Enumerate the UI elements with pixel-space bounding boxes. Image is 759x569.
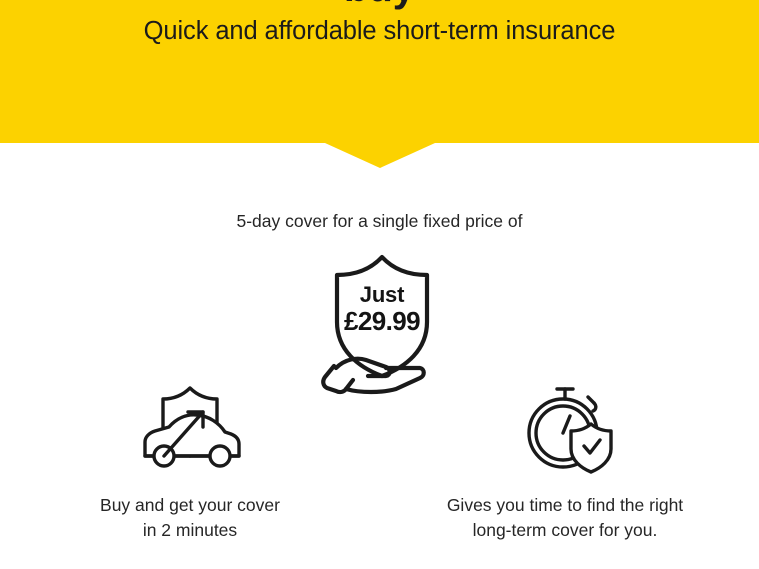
feature-right-line-1: Gives you time to find the right — [400, 493, 730, 518]
feature-left-line-1: Buy and get your cover — [25, 493, 355, 518]
banner-clipped-headline: buy — [0, 0, 759, 10]
feature-buy-in-2-minutes: Buy and get your cover in 2 minutes — [25, 380, 355, 544]
feature-right-line-2: long-term cover for you. — [400, 518, 730, 543]
feature-left-caption: Buy and get your cover in 2 minutes — [25, 493, 355, 544]
triangle-down-notch-icon — [325, 143, 435, 168]
banner: buy Quick and affordable short-term insu… — [0, 0, 759, 143]
car-shield-arrow-icon — [25, 380, 355, 475]
feature-right-caption: Gives you time to find the right long-te… — [400, 493, 730, 544]
price-caption: 5-day cover for a single fixed price of — [0, 211, 759, 232]
shield-in-hand-icon — [312, 250, 452, 395]
banner-headline: Quick and affordable short-term insuranc… — [0, 16, 759, 47]
stopwatch-shield-check-icon — [400, 380, 730, 475]
feature-time-to-find-cover: Gives you time to find the right long-te… — [400, 380, 730, 544]
promo-panel: buy Quick and affordable short-term insu… — [0, 0, 759, 569]
feature-left-line-2: in 2 minutes — [25, 518, 355, 543]
